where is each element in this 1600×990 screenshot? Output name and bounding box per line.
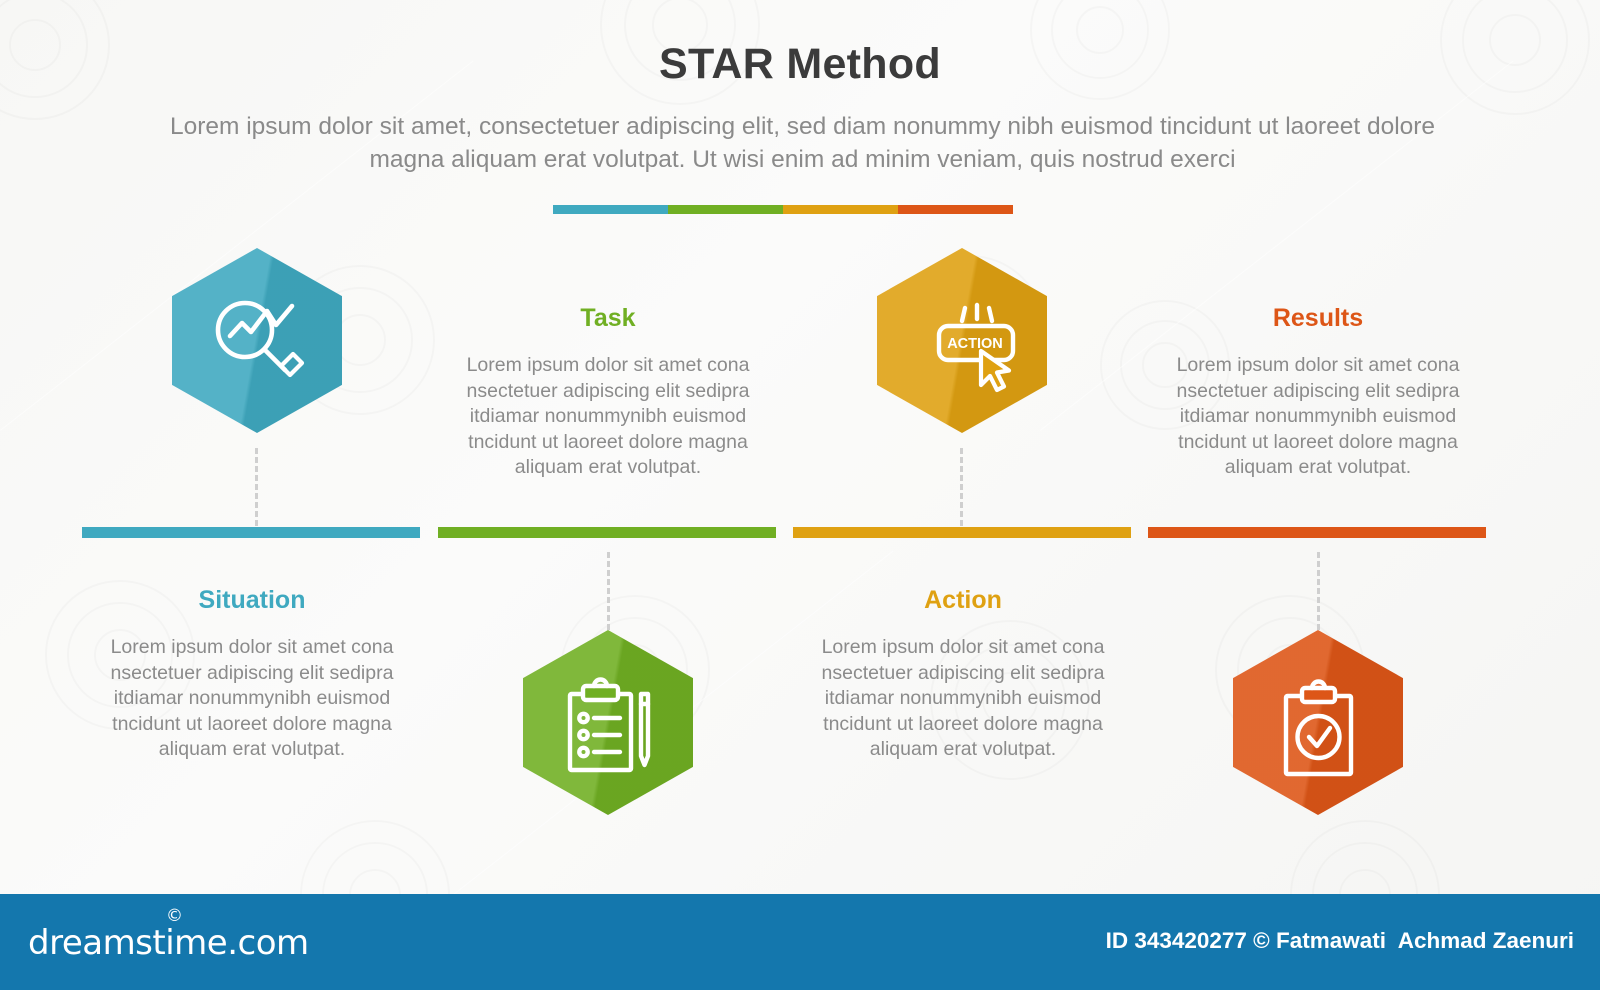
- top-rule-segment-amber: [783, 205, 898, 214]
- hexagon-results[interactable]: [1233, 630, 1403, 815]
- page-title: STAR Method: [0, 40, 1600, 89]
- top-color-rule: [553, 205, 1013, 214]
- text-block-results: Results Lorem ipsum dolor sit amet cona …: [1148, 303, 1488, 481]
- hexagon-task[interactable]: [523, 630, 693, 815]
- page-subtitle: Lorem ipsum dolor sit amet, consectetuer…: [130, 110, 1475, 176]
- divider-bar-task: [438, 527, 776, 538]
- text-block-task: Task Lorem ipsum dolor sit amet cona nse…: [438, 303, 778, 481]
- heading-action: Action: [793, 585, 1133, 615]
- clipboard-checklist-pencil-icon: [523, 630, 693, 815]
- clipboard-check-icon: [1233, 630, 1403, 815]
- connector-task: [607, 552, 610, 630]
- text-block-action: Action Lorem ipsum dolor sit amet cona n…: [793, 585, 1133, 763]
- hexagon-action[interactable]: ACTION: [877, 248, 1047, 433]
- description-action: Lorem ipsum dolor sit amet cona nsectetu…: [793, 635, 1133, 763]
- top-rule-segment-blue: [553, 205, 668, 214]
- top-rule-segment-red: [898, 205, 1013, 214]
- image-credit: ID 343420277 © Fatmawati Achmad Zaenuri: [1106, 928, 1574, 954]
- description-task: Lorem ipsum dolor sit amet cona nsectetu…: [438, 353, 778, 481]
- heading-situation: Situation: [82, 585, 422, 615]
- connector-action: [960, 448, 963, 526]
- hexagon-situation[interactable]: [172, 248, 342, 433]
- heading-results: Results: [1148, 303, 1488, 333]
- text-block-situation: Situation Lorem ipsum dolor sit amet con…: [82, 585, 422, 763]
- divider-bar-results: [1148, 527, 1486, 538]
- dreamstime-logo[interactable]: dreamstime.com ©: [28, 923, 309, 963]
- connector-results: [1317, 552, 1320, 630]
- divider-bar-action: [793, 527, 1131, 538]
- top-rule-segment-green: [668, 205, 783, 214]
- dreamstime-logo-text: dreamstime.com: [28, 923, 309, 963]
- description-situation: Lorem ipsum dolor sit amet cona nsectetu…: [82, 635, 422, 763]
- action-button-cursor-icon: ACTION: [877, 248, 1047, 433]
- connector-situation: [255, 448, 258, 526]
- divider-bar-situation: [82, 527, 420, 538]
- footer-bar: dreamstime.com © ID 343420277 © Fatmawat…: [0, 894, 1600, 990]
- magnifier-chart-icon: [172, 248, 342, 433]
- description-results: Lorem ipsum dolor sit amet cona nsectetu…: [1148, 353, 1488, 481]
- heading-task: Task: [438, 303, 778, 333]
- dreamstime-spiral-icon: ©: [166, 906, 183, 926]
- infographic-canvas: STAR Method Lorem ipsum dolor sit amet, …: [0, 0, 1600, 990]
- action-icon-label: ACTION: [947, 336, 1003, 352]
